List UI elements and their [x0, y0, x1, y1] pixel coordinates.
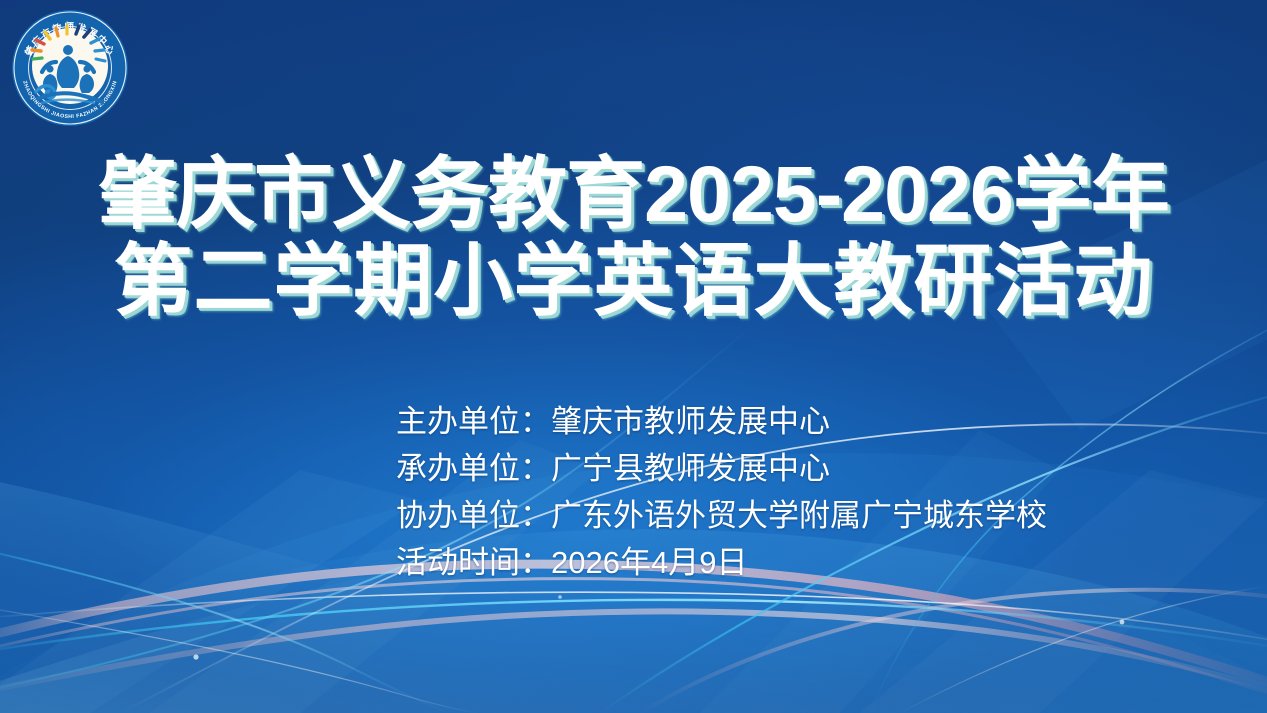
credit-value-organizer: 肇庆市教师发展中心	[551, 404, 830, 439]
credit-label-organizer: 主办单位：	[396, 404, 551, 439]
organization-logo: 肇庆市教师发展中心 ZHAOQINGSHI JIAOSHI FAZHAN ZHO…	[8, 6, 132, 130]
title-line-2: 第二学期小学英语大教研活动	[0, 237, 1267, 324]
title-line-1: 肇庆市义务教育2025-2026学年	[0, 150, 1267, 237]
credit-row-host: 承办单位：广宁县教师发展中心	[396, 445, 1047, 492]
credit-row-co-organizer: 协办单位：广东外语外贸大学附属广宁城东学校	[396, 492, 1047, 539]
credit-value-host: 广宁县教师发展中心	[551, 451, 830, 486]
background-wave-decoration	[0, 0, 1267, 713]
credit-row-organizer: 主办单位：肇庆市教师发展中心	[396, 398, 1047, 445]
credit-label-co-organizer: 协办单位：	[396, 498, 551, 533]
credit-value-co-organizer: 广东外语外贸大学附属广宁城东学校	[551, 498, 1047, 533]
presentation-slide: 肇庆市教师发展中心 ZHAOQINGSHI JIAOSHI FAZHAN ZHO…	[0, 0, 1267, 713]
credit-label-host: 承办单位：	[396, 451, 551, 486]
credit-row-date: 活动时间：2026年4月9日	[396, 539, 1047, 586]
credits-block: 主办单位：肇庆市教师发展中心 承办单位：广宁县教师发展中心 协办单位：广东外语外…	[396, 398, 1047, 586]
slide-title: 肇庆市义务教育2025-2026学年 第二学期小学英语大教研活动	[0, 150, 1267, 324]
credit-value-date: 2026年4月9日	[551, 545, 747, 580]
credit-label-date: 活动时间：	[396, 545, 551, 580]
